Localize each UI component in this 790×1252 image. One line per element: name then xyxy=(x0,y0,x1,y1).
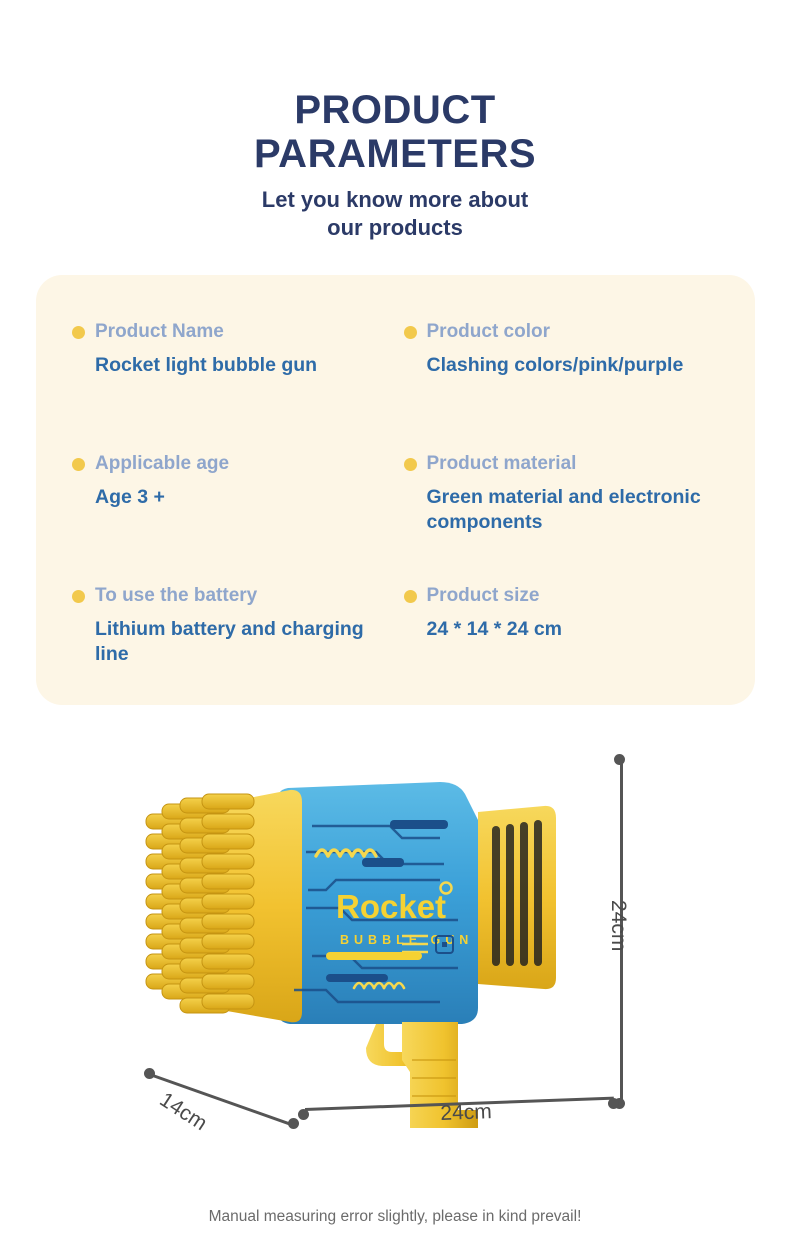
parameter-label: To use the battery xyxy=(95,585,257,607)
parameter-label-row: To use the battery xyxy=(72,585,390,607)
dimension-endpoint-dot xyxy=(144,1068,155,1079)
parameter-label: Applicable age xyxy=(95,453,229,475)
bullet-dot-icon xyxy=(404,458,417,471)
parameter-label-row: Applicable age xyxy=(72,453,390,475)
parameters-grid: Product Name Rocket light bubble gun Pro… xyxy=(72,321,735,717)
parameter-item: Product Name Rocket light bubble gun xyxy=(72,321,404,427)
bullet-dot-icon xyxy=(404,590,417,603)
page-title-line-2: PARAMETERS xyxy=(230,132,560,176)
page-subtitle-line-1: Let you know more about xyxy=(195,186,595,214)
parameter-value: Clashing colors/pink/purple xyxy=(427,353,722,378)
page-header: PRODUCT PARAMETERS Let you know more abo… xyxy=(0,0,790,242)
page-title-line-1: PRODUCT xyxy=(230,88,560,132)
product-brand-text: Rocket xyxy=(336,888,446,925)
parameter-label-row: Product color xyxy=(404,321,722,343)
parameter-label: Product material xyxy=(427,453,577,475)
dimension-endpoint-dot xyxy=(298,1109,309,1120)
parameter-value: Green material and electronic components xyxy=(427,485,722,535)
bullet-dot-icon xyxy=(72,326,85,339)
measurement-disclaimer: Manual measuring error slightly, please … xyxy=(0,1208,790,1226)
dimension-endpoint-dot xyxy=(608,1098,619,1109)
yellow-bar xyxy=(326,952,422,960)
nozzle-array xyxy=(146,794,254,1013)
bullet-dot-icon xyxy=(404,326,417,339)
dimension-label-height: 24cm xyxy=(606,900,630,951)
parameter-label-row: Product size xyxy=(404,585,722,607)
parameter-value: Rocket light bubble gun xyxy=(95,353,390,378)
bullet-dot-icon xyxy=(72,590,85,603)
parameter-item: Applicable age Age 3 + xyxy=(72,453,404,559)
parameter-item: Product material Green material and elec… xyxy=(404,453,736,559)
parameter-label: Product color xyxy=(427,321,551,343)
dimension-endpoint-dot xyxy=(614,754,625,765)
gun-grille-block xyxy=(478,806,556,989)
product-dimension-area: Rocket BUBBLE GUN 24cm xyxy=(0,710,790,1200)
dimension-label-width: 24cm xyxy=(440,1100,492,1126)
parameter-item: To use the battery Lithium battery and c… xyxy=(72,585,404,691)
parameter-item: Product size 24 * 14 * 24 cm xyxy=(404,585,736,691)
parameter-item: Product color Clashing colors/pink/purpl… xyxy=(404,321,736,427)
parameter-value: Age 3 + xyxy=(95,485,390,510)
page-title: PRODUCT PARAMETERS xyxy=(230,88,560,176)
parameter-value: 24 * 14 * 24 cm xyxy=(427,617,722,642)
parameter-label: Product Name xyxy=(95,321,224,343)
page-subtitle: Let you know more about our products xyxy=(195,186,595,242)
product-image-bubble-gun: Rocket BUBBLE GUN xyxy=(140,760,600,1130)
parameter-label-row: Product Name xyxy=(72,321,390,343)
bullet-dot-icon xyxy=(72,458,85,471)
parameter-value: Lithium battery and charging line xyxy=(95,617,390,667)
dimension-endpoint-dot xyxy=(288,1118,299,1129)
parameter-label-row: Product material xyxy=(404,453,722,475)
page-subtitle-line-2: our products xyxy=(195,214,595,242)
parameter-label: Product size xyxy=(427,585,540,607)
parameters-card: Product Name Rocket light bubble gun Pro… xyxy=(36,275,755,705)
